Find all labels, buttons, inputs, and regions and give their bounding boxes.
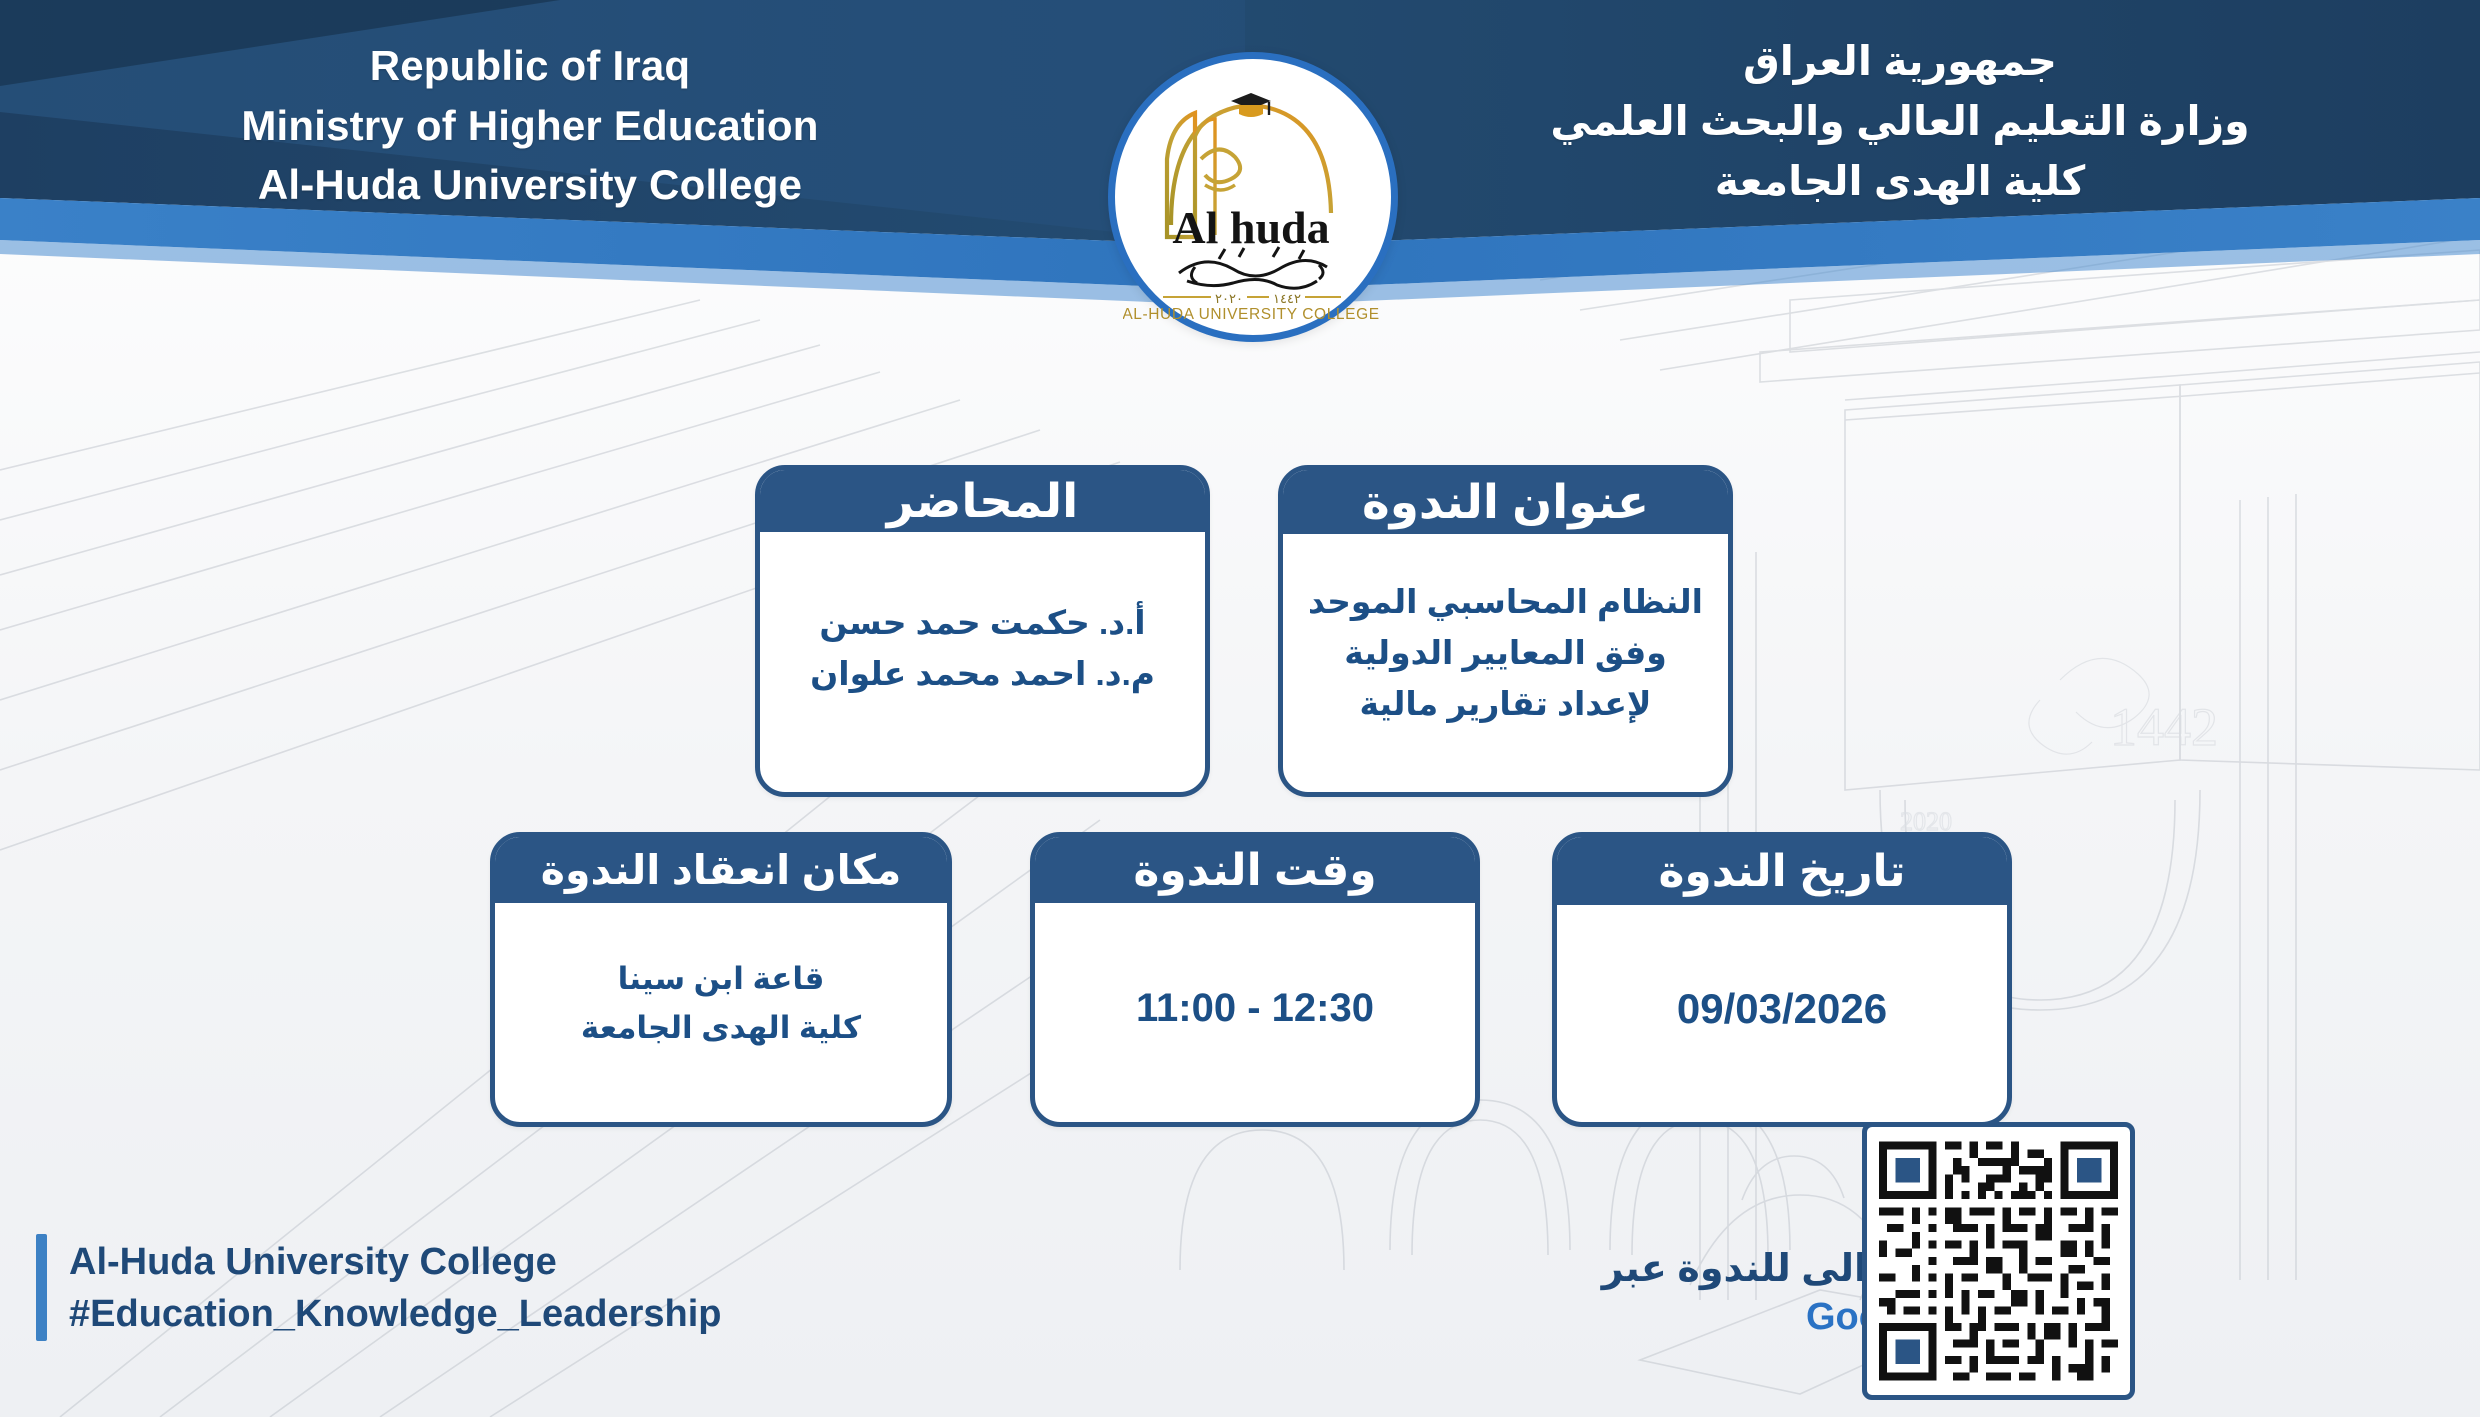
lecturer-name-1: أ.د. حكمت حمد حسن xyxy=(810,597,1155,648)
svg-text:١٤٤٢: ١٤٤٢ xyxy=(1273,292,1301,307)
footer-college-name: Al-Huda University College xyxy=(69,1236,721,1288)
header-left-text: Republic of Iraq Ministry of Higher Educ… xyxy=(120,36,940,215)
seminar-title-line-3: لإعداد تقارير مالية xyxy=(1308,678,1703,729)
card-lecturer: المحاضر أ.د. حكمت حمد حسن م.د. احمد محمد… xyxy=(755,465,1210,797)
seminar-poster: 1442 2020 xyxy=(0,0,2480,1417)
university-logo: Al huda ٢٠٢٠ ١٤٤٢ AL-HUDA UNIVERSITY COL… xyxy=(1108,52,1398,342)
card-time: وقت الندوة 11:00 - 12:30 xyxy=(1030,832,1480,1127)
svg-text:٢٠٢٠: ٢٠٢٠ xyxy=(1215,292,1243,307)
header-right-line-3: كلية الهدى الجامعة xyxy=(1430,152,2370,212)
svg-text:AL-HUDA UNIVERSITY COLLEGE: AL-HUDA UNIVERSITY COLLEGE xyxy=(1123,306,1380,323)
card-place-body: قاعة ابن سينا كلية الهدى الجامعة xyxy=(495,903,947,1122)
footer-branding: Al-Huda University College #Education_Kn… xyxy=(36,1234,721,1341)
header-right-line-1: جمهورية العراق xyxy=(1430,32,2370,92)
header-left-line-3: Al-Huda University College xyxy=(120,155,940,215)
card-place: مكان انعقاد الندوة قاعة ابن سينا كلية ال… xyxy=(490,832,952,1127)
seminar-title-line-1: النظام المحاسبي الموحد xyxy=(1308,576,1703,627)
seminar-title-line-2: وفق المعايير الدولية xyxy=(1308,627,1703,678)
lecturer-name-2: م.د. احمد محمد علوان xyxy=(810,648,1155,699)
card-lecturer-title: المحاضر xyxy=(760,470,1205,532)
card-lecturer-body: أ.د. حكمت حمد حسن م.د. احمد محمد علوان xyxy=(760,532,1205,792)
svg-text:1442: 1442 xyxy=(2110,697,2218,757)
card-seminar-title: عنوان الندوة النظام المحاسبي الموحد وفق … xyxy=(1278,465,1733,797)
card-seminar-title-heading: عنوان الندوة xyxy=(1283,470,1728,534)
card-date-title: تاريخ الندوة xyxy=(1557,837,2007,905)
place-line-2: كلية الهدى الجامعة xyxy=(581,1004,861,1052)
qr-code[interactable] xyxy=(1862,1122,2135,1400)
footer-hashtag: #Education_Knowledge_Leadership xyxy=(69,1288,721,1340)
header-left-line-2: Ministry of Higher Education xyxy=(120,96,940,156)
footer-text: Al-Huda University College #Education_Kn… xyxy=(69,1234,721,1341)
card-time-title: وقت الندوة xyxy=(1035,837,1475,903)
card-seminar-title-body: النظام المحاسبي الموحد وفق المعايير الدو… xyxy=(1283,534,1728,792)
header-right-line-2: وزارة التعليم العالي والبحث العلمي xyxy=(1430,92,2370,152)
card-time-value: 11:00 - 12:30 xyxy=(1035,903,1475,1122)
header-right-text: جمهورية العراق وزارة التعليم العالي والب… xyxy=(1430,32,2370,212)
header-left-line-1: Republic of Iraq xyxy=(120,36,940,96)
place-line-1: قاعة ابن سينا xyxy=(581,955,861,1003)
card-date-value: 09/03/2026 xyxy=(1557,905,2007,1122)
card-place-title: مكان انعقاد الندوة xyxy=(495,837,947,903)
footer-accent-bar xyxy=(36,1234,47,1341)
svg-text:Al huda: Al huda xyxy=(1172,202,1329,253)
card-date: تاريخ الندوة 09/03/2026 xyxy=(1552,832,2012,1127)
